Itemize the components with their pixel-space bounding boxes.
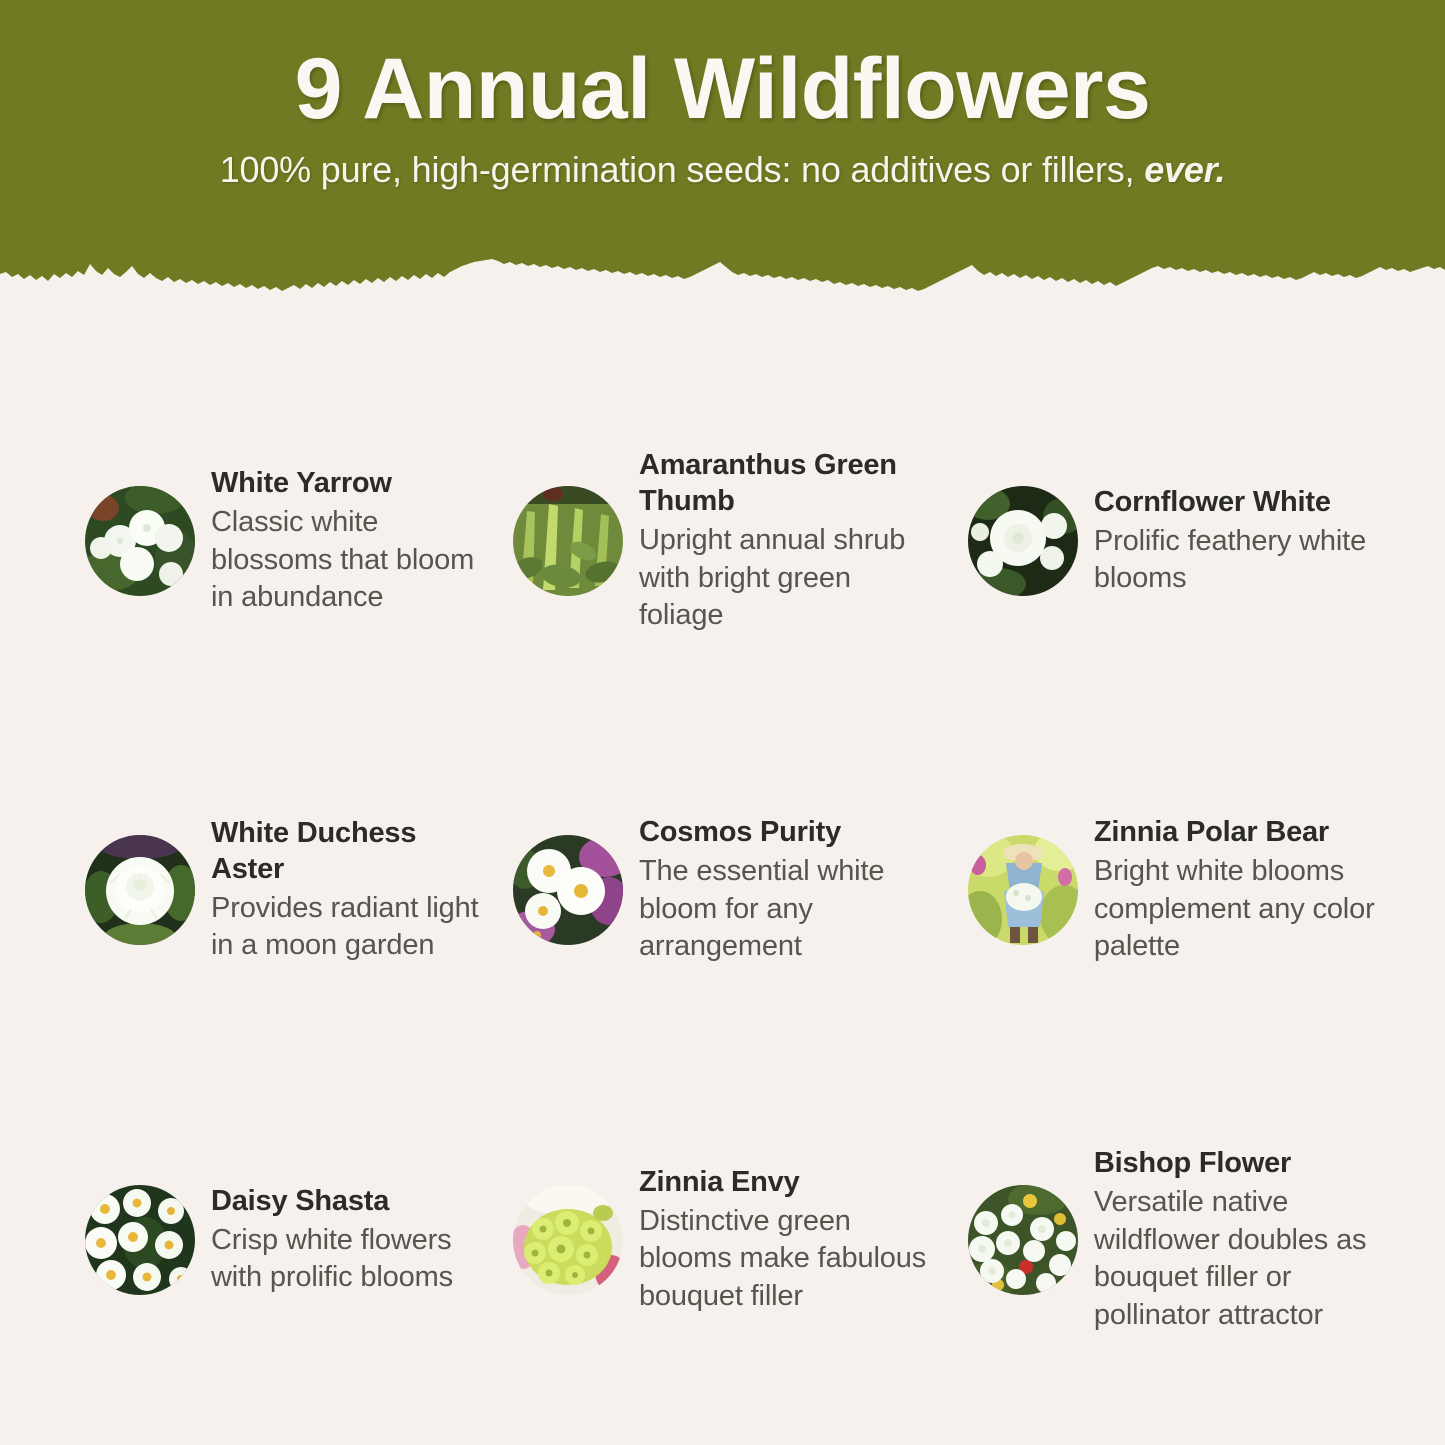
flower-description: Versatile native wildflower doubles as b… (1094, 1184, 1395, 1335)
flower-text-block: White Duchess Aster Provides radiant lig… (211, 816, 485, 965)
header-banner: 9 Annual Wildflowers 100% pure, high-ger… (0, 0, 1445, 300)
flower-text-block: Zinnia Envy Distinctive green blooms mak… (639, 1165, 940, 1316)
page-subtitle: 100% pure, high-germination seeds: no ad… (0, 148, 1445, 191)
flower-row: White Duchess Aster Provides radiant lig… (40, 815, 1405, 966)
flower-name: Amaranthus Green Thumb (639, 448, 940, 520)
subtitle-emphasis-text: ever. (1144, 149, 1225, 190)
subtitle-main-text: 100% pure, high-germination seeds: no ad… (220, 149, 1145, 190)
flower-description: Distinctive green blooms make fabulous b… (639, 1203, 940, 1316)
flower-card-amaranthus-green-thumb[interactable]: Amaranthus Green Thumb Upright annual sh… (495, 448, 950, 635)
flower-card-daisy-shasta[interactable]: Daisy Shasta Crisp white flowers with pr… (40, 1184, 495, 1297)
flower-name: Cosmos Purity (639, 815, 940, 851)
flower-name: Daisy Shasta (211, 1184, 485, 1220)
flower-name: White Duchess Aster (211, 816, 485, 888)
flower-text-block: Daisy Shasta Crisp white flowers with pr… (211, 1184, 485, 1297)
flower-card-white-duchess-aster[interactable]: White Duchess Aster Provides radiant lig… (40, 816, 495, 965)
flower-description: Classic white blossoms that bloom in abu… (211, 504, 485, 617)
flower-card-zinnia-envy[interactable]: Zinnia Envy Distinctive green blooms mak… (495, 1165, 950, 1316)
white-yarrow-photo (85, 486, 195, 596)
flower-name: Zinnia Envy (639, 1165, 940, 1201)
flower-name: Cornflower White (1094, 485, 1395, 521)
zinnia-polar-bear-photo (968, 835, 1078, 945)
flower-card-zinnia-polar-bear[interactable]: Zinnia Polar Bear Bright white blooms co… (950, 815, 1405, 966)
torn-paper-edge (0, 244, 1445, 300)
white-duchess-aster-photo (85, 835, 195, 945)
flower-card-bishop-flower[interactable]: Bishop Flower Versatile native wildflowe… (950, 1146, 1405, 1335)
cornflower-white-photo (968, 486, 1078, 596)
flower-description: Prolific feathery white blooms (1094, 523, 1395, 598)
flower-description: The essential white bloom for any arrang… (639, 853, 940, 966)
flower-text-block: Cosmos Purity The essential white bloom … (639, 815, 940, 966)
bishop-flower-photo (968, 1185, 1078, 1295)
daisy-shasta-photo (85, 1185, 195, 1295)
flower-text-block: Zinnia Polar Bear Bright white blooms co… (1094, 815, 1395, 966)
flower-text-block: Cornflower White Prolific feathery white… (1094, 485, 1395, 598)
flower-row: Daisy Shasta Crisp white flowers with pr… (40, 1146, 1405, 1335)
flower-card-white-yarrow[interactable]: White Yarrow Classic white blossoms that… (40, 466, 495, 617)
flower-row: White Yarrow Classic white blossoms that… (40, 448, 1405, 635)
flower-name: Zinnia Polar Bear (1094, 815, 1395, 851)
flower-grid: White Yarrow Classic white blossoms that… (0, 300, 1445, 1335)
flower-description: Provides radiant light in a moon garden (211, 890, 485, 965)
flower-description: Crisp white flowers with prolific blooms (211, 1222, 485, 1297)
flower-card-cornflower-white[interactable]: Cornflower White Prolific feathery white… (950, 485, 1405, 598)
cosmos-purity-photo (513, 835, 623, 945)
flower-description: Upright annual shrub with bright green f… (639, 522, 940, 635)
flower-card-cosmos-purity[interactable]: Cosmos Purity The essential white bloom … (495, 815, 950, 966)
flower-name: Bishop Flower (1094, 1146, 1395, 1182)
flower-name: White Yarrow (211, 466, 485, 502)
amaranthus-green-thumb-photo (513, 486, 623, 596)
flower-description: Bright white blooms complement any color… (1094, 853, 1395, 966)
flower-text-block: White Yarrow Classic white blossoms that… (211, 466, 485, 617)
page-title: 9 Annual Wildflowers (0, 46, 1445, 134)
header-text-block: 9 Annual Wildflowers 100% pure, high-ger… (0, 0, 1445, 191)
zinnia-envy-photo (513, 1185, 623, 1295)
flower-text-block: Bishop Flower Versatile native wildflowe… (1094, 1146, 1395, 1335)
flower-text-block: Amaranthus Green Thumb Upright annual sh… (639, 448, 940, 635)
